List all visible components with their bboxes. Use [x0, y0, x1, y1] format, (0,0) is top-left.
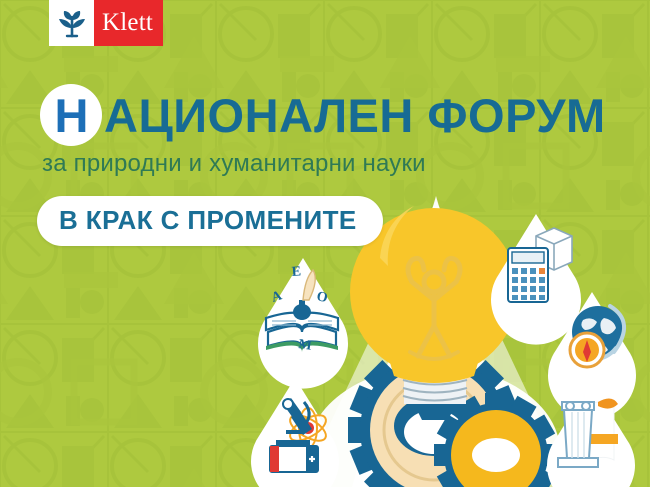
klett-wordmark: Klett	[94, 0, 163, 46]
calculator-and-cube-icon	[508, 228, 572, 302]
svg-text:М: М	[297, 337, 312, 354]
open-book-with-quill-icon	[266, 270, 338, 352]
tagline-badge: В КРАК С ПРОМЕНИТЕ	[37, 196, 383, 246]
svg-text:О: О	[315, 289, 329, 306]
globe-with-compass-icon	[570, 306, 624, 367]
headline-rest: АЦИОНАЛЕН ФОРУМ	[104, 92, 606, 139]
geography-droplet	[548, 292, 636, 419]
small-gear	[434, 393, 558, 487]
history-droplet	[547, 382, 635, 487]
svg-text:А: А	[270, 288, 285, 306]
bulb-socket	[403, 360, 467, 420]
greek-column-with-scroll-icon	[558, 398, 618, 467]
microscope-atom-battery-icon	[270, 398, 330, 472]
science-droplet	[251, 378, 339, 487]
forum-banner: А Е О М	[0, 0, 650, 487]
math-droplet	[491, 214, 581, 345]
literature-droplet: А Е О М	[258, 258, 348, 389]
page-subtitle: за природни и хуманитарни науки	[42, 150, 426, 178]
page-title: Н АЦИОНАЛЕН ФОРУМ	[40, 84, 606, 146]
large-gear	[348, 344, 520, 487]
headline-initial-badge: Н	[40, 84, 102, 146]
headline-initial: Н	[55, 92, 88, 139]
klett-plant-icon	[49, 0, 94, 46]
tagline-text: В КРАК С ПРОМЕНИТЕ	[59, 205, 357, 235]
klett-logo[interactable]: Klett	[49, 0, 163, 46]
svg-text:Е: Е	[291, 264, 301, 280]
person-raising-arms-icon	[408, 258, 460, 359]
